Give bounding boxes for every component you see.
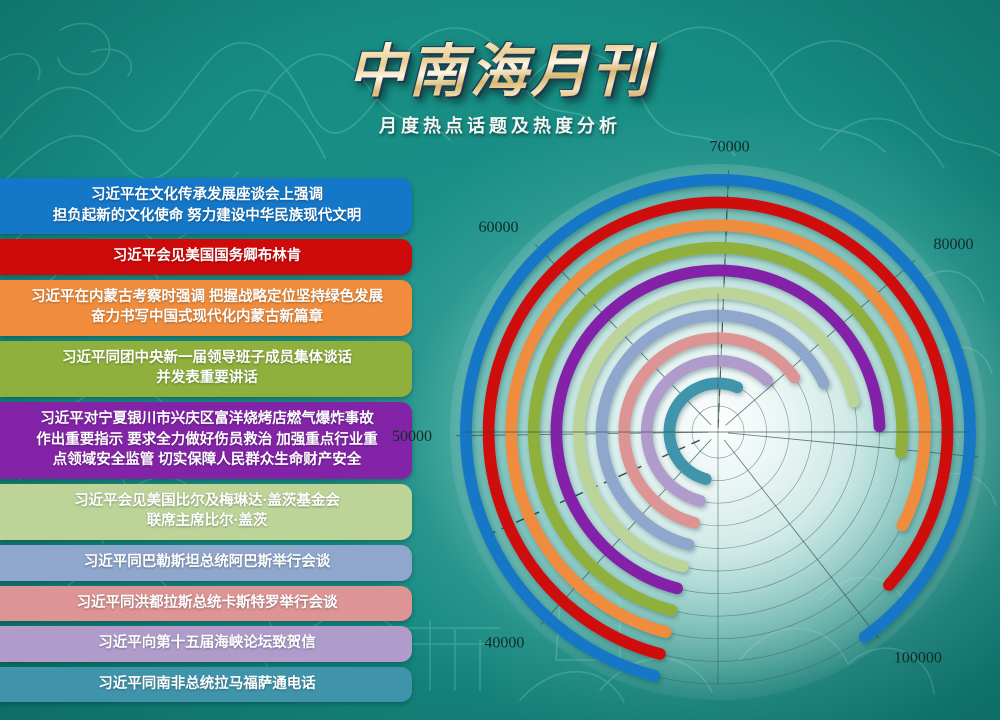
topic-line: 点领域安全监管 切实保障人民群众生命财产安全 — [16, 450, 398, 471]
axis-tick-label-40000: 40000 — [484, 635, 524, 652]
topic-line: 习近平会见美国国务卿布林肯 — [16, 246, 398, 267]
topic-item-5[interactable]: 习近平对宁夏银川市兴庆区富洋烧烤店燃气爆炸事故作出重要指示 要求全力做好伤员救治… — [0, 402, 412, 479]
axis-tick-label-80000: 80000 — [934, 236, 974, 253]
topic-line: 习近平同巴勒斯坦总统阿巴斯举行会谈 — [16, 552, 398, 573]
radial-chart-svg: 400005000060000700008000090000100000 — [430, 150, 1000, 720]
topic-item-3[interactable]: 习近平在内蒙古考察时强调 把握战略定位坚持绿色发展奋力书写中国式现代化内蒙古新篇… — [0, 280, 412, 336]
topic-line: 作出重要指示 要求全力做好伤员救治 加强重点行业重 — [16, 430, 398, 451]
page-subtitle: 月度热点话题及热度分析 — [0, 112, 1000, 138]
topic-line: 担负起新的文化使命 努力建设中华民族现代文明 — [16, 206, 398, 227]
topic-item-7[interactable]: 习近平同巴勒斯坦总统阿巴斯举行会谈 — [0, 545, 412, 581]
topic-item-6[interactable]: 习近平会见美国比尔及梅琳达·盖茨基金会联席主席比尔·盖茨 — [0, 484, 412, 540]
topic-line: 习近平向第十五届海峡论坛致贺信 — [16, 633, 398, 654]
topic-item-8[interactable]: 习近平同洪都拉斯总统卡斯特罗举行会谈 — [0, 586, 412, 622]
topic-line: 奋力书写中国式现代化内蒙古新篇章 — [16, 307, 398, 328]
topic-line: 习近平在文化传承发展座谈会上强调 — [16, 185, 398, 206]
topic-line: 习近平会见美国比尔及梅琳达·盖茨基金会 — [16, 491, 398, 512]
topic-line: 联席主席比尔·盖茨 — [16, 511, 398, 532]
topic-item-10[interactable]: 习近平同南非总统拉马福萨通电话 — [0, 667, 412, 703]
topic-list: 习近平在文化传承发展座谈会上强调担负起新的文化使命 努力建设中华民族现代文明习近… — [0, 178, 412, 707]
radial-bar-chart: 400005000060000700008000090000100000 — [430, 150, 1000, 720]
topic-line: 习近平对宁夏银川市兴庆区富洋烧烤店燃气爆炸事故 — [16, 409, 398, 430]
topic-item-9[interactable]: 习近平向第十五届海峡论坛致贺信 — [0, 626, 412, 662]
header: 中南海月刊 月度热点话题及热度分析 — [0, 42, 1000, 138]
topic-item-2[interactable]: 习近平会见美国国务卿布林肯 — [0, 239, 412, 275]
topic-line: 习近平在内蒙古考察时强调 把握战略定位坚持绿色发展 — [16, 287, 398, 308]
topic-line: 习近平同南非总统拉马福萨通电话 — [16, 674, 398, 695]
topic-line: 习近平同团中央新一届领导班子成员集体谈话 — [16, 348, 398, 369]
topic-line: 习近平同洪都拉斯总统卡斯特罗举行会谈 — [16, 593, 398, 614]
topic-line: 并发表重要讲话 — [16, 368, 398, 389]
axis-tick-label-70000: 70000 — [710, 138, 750, 155]
topic-item-4[interactable]: 习近平同团中央新一届领导班子成员集体谈话并发表重要讲话 — [0, 341, 412, 397]
axis-tick-label-50000: 50000 — [392, 428, 432, 445]
page-title: 中南海月刊 — [341, 42, 658, 100]
axis-tick-label-60000: 60000 — [478, 219, 518, 236]
topic-item-1[interactable]: 习近平在文化传承发展座谈会上强调担负起新的文化使命 努力建设中华民族现代文明 — [0, 178, 412, 234]
infographic-canvas: 中南海月刊 月度热点话题及热度分析 习近平在文化传承发展座谈会上强调担负起新的文… — [0, 0, 1000, 720]
axis-tick-label-100000: 100000 — [894, 650, 942, 667]
